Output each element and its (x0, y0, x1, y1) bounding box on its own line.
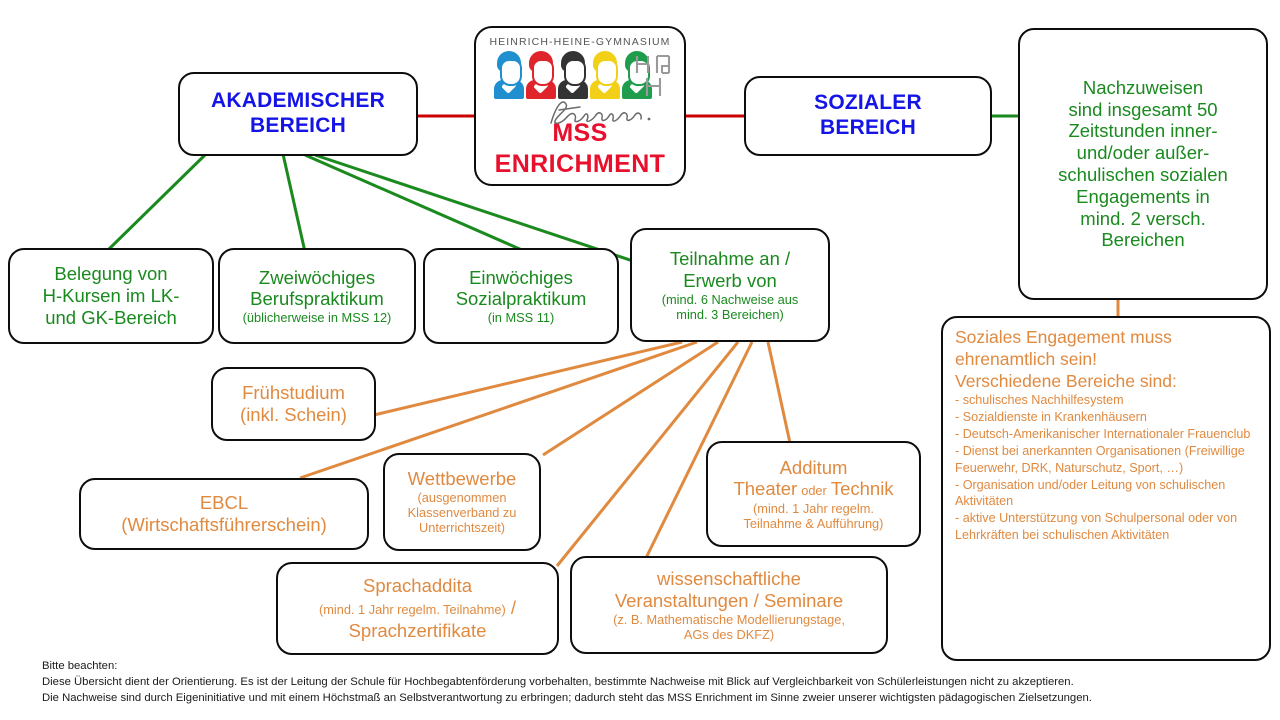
soz-item-1: - schulisches Nachhilfesystem (955, 392, 1124, 409)
node-sprachaddita[interactable]: Sprachaddita (mind. 1 Jahr regelm. Teiln… (276, 562, 559, 655)
heine-signature-icon (545, 97, 665, 127)
sozialpraktikum-line-2: Sozialpraktikum (433, 288, 609, 310)
belegung-line-3: und GK-Bereich (18, 307, 204, 329)
ebcl-line-1: EBCL (89, 492, 359, 514)
footer-note: Bitte beachten: Diese Übersicht dient de… (42, 658, 1252, 706)
additum-oder: oder (797, 483, 831, 498)
node-belegung-h-kurse[interactable]: Belegung von H-Kursen im LK- und GK-Bere… (8, 248, 214, 344)
sprachaddita-slash: / (506, 597, 516, 618)
sozialpraktikum-note: (in MSS 11) (433, 310, 609, 325)
node-teilnahme-erwerb[interactable]: Teilnahme an / Erwerb von (mind. 6 Nachw… (630, 228, 830, 342)
heine-portrait-blue-icon (494, 51, 524, 99)
diagram-canvas: AKADEMISCHER BEREICH HEINRICH-HEINE-GYMN… (0, 0, 1280, 720)
sozialer-line1: SOZIALER (814, 91, 922, 116)
link-academic-belegung (108, 154, 206, 250)
sprachaddita-note: (mind. 1 Jahr regelm. Teilnahme) (319, 602, 506, 617)
wettbewerbe-note-2: Klassenverband zu (393, 505, 531, 520)
teilnahme-line-1: Teilnahme an / (640, 248, 820, 270)
teilnahme-line-2: Erwerb von (640, 270, 820, 292)
soz-heading-2: ehrenamtlich sein! (955, 348, 1097, 370)
link-teilnahme-fruehstudium (374, 342, 682, 415)
berufspraktikum-line-2: Berufspraktikum (228, 288, 406, 310)
requirement-line-4: und/oder außer- (1028, 142, 1258, 164)
additum-note-1: (mind. 1 Jahr regelm. (716, 501, 911, 516)
node-additum[interactable]: Additum TheateroderTechnik (mind. 1 Jahr… (706, 441, 921, 547)
wissenschaftliche-line-1: wissenschaftliche (580, 568, 878, 590)
ebcl-line-2: (Wirtschaftsführerschein) (89, 514, 359, 536)
requirement-line-2: sind insgesamt 50 (1028, 99, 1258, 121)
sprachaddita-title: Sprachaddita (286, 575, 549, 597)
node-wissenschaftliche-veranstaltungen[interactable]: wissenschaftliche Veranstaltungen / Semi… (570, 556, 888, 654)
akademischer-line2: BEREICH (250, 114, 346, 139)
fruehstudium-line-2: (inkl. Schein) (221, 404, 366, 426)
footer-label: Bitte beachten: (42, 658, 1252, 674)
fruehstudium-line-1: Frühstudium (221, 382, 366, 404)
enrichment-label: ENRICHMENT (495, 150, 666, 180)
heine-portraits-artwork (488, 51, 673, 103)
additum-title: Additum (716, 457, 911, 479)
soz-item-4: - Dienst bei anerkannten Organisationen … (955, 443, 1259, 477)
footer-line-1: Diese Übersicht dient der Orientierung. … (42, 674, 1252, 690)
requirement-line-3: Zeitstunden inner- (1028, 120, 1258, 142)
node-einwoechiges-sozialpraktikum[interactable]: Einwöchiges Sozialpraktikum (in MSS 11) (423, 248, 619, 344)
additum-technik: Technik (831, 478, 894, 499)
teilnahme-note-1: (mind. 6 Nachweise aus (640, 292, 820, 307)
soz-item-2: - Sozialdienste in Krankenhäusern (955, 409, 1147, 426)
footer-line-2: Die Nachweise sind durch Eigeninitiative… (42, 690, 1252, 706)
requirement-line-6: Engagements in (1028, 186, 1258, 208)
node-zweiwoechiges-berufspraktikum[interactable]: Zweiwöchiges Berufspraktikum (üblicherwe… (218, 248, 416, 344)
belegung-line-1: Belegung von (18, 263, 204, 285)
node-wettbewerbe[interactable]: Wettbewerbe (ausgenommen Klassenverband … (383, 453, 541, 551)
heine-portrait-yellow-icon (590, 51, 620, 99)
sprachaddita-middle-row: (mind. 1 Jahr regelm. Teilnahme) / (286, 597, 549, 620)
soz-heading-3: Verschiedene Bereiche sind: (955, 370, 1177, 392)
wissenschaftliche-line-2: Veranstaltungen / Seminare (580, 590, 878, 612)
soz-item-3: - Deutsch-Amerikanischer Internationaler… (955, 426, 1250, 443)
requirement-line-8: Bereichen (1028, 229, 1258, 251)
belegung-line-2: H-Kursen im LK- (18, 285, 204, 307)
berufspraktikum-note: (üblicherweise in MSS 12) (228, 310, 406, 325)
akademischer-line1: AKADEMISCHER (211, 89, 385, 114)
link-teilnahme-wettbewerbe (543, 342, 718, 455)
berufspraktikum-line-1: Zweiwöchiges (228, 267, 406, 289)
node-soziales-engagement-liste[interactable]: Soziales Engagement muss ehrenamtlich se… (941, 316, 1271, 661)
requirement-line-1: Nachzuweisen (1028, 77, 1258, 99)
wissenschaftliche-note-1: (z. B. Mathematische Modellierungstage, (580, 612, 878, 627)
soz-heading-1: Soziales Engagement muss (955, 326, 1172, 348)
additum-theater: Theater (733, 478, 797, 499)
node-sozialer-bereich[interactable]: SOZIALER BEREICH (744, 76, 992, 156)
node-mss-enrichment-logo[interactable]: HEINRICH-HEINE-GYMNASIUM (474, 26, 686, 186)
additum-subjects-row: TheateroderTechnik (716, 478, 911, 501)
heine-portrait-red-icon (526, 51, 556, 99)
additum-note-2: Teilnahme & Aufführung) (716, 516, 911, 531)
sprachaddita-title-2: Sprachzertifikate (286, 620, 549, 642)
wissenschaftliche-note-2: AGs des DKFZ) (580, 627, 878, 642)
heine-portrait-black-icon (558, 51, 588, 99)
node-akademischer-bereich[interactable]: AKADEMISCHER BEREICH (178, 72, 418, 156)
soz-item-5: - Organisation und/oder Leitung von schu… (955, 477, 1259, 511)
node-ebcl[interactable]: EBCL (Wirtschaftsführerschein) (79, 478, 369, 550)
wettbewerbe-note-1: (ausgenommen (393, 490, 531, 505)
sozialpraktikum-line-1: Einwöchiges (433, 267, 609, 289)
school-name-label: HEINRICH-HEINE-GYMNASIUM (490, 36, 671, 48)
soz-item-6: - aktive Unterstützung von Schulpersonal… (955, 510, 1259, 544)
wettbewerbe-note-3: Unterrichtszeit) (393, 520, 531, 535)
link-academic-berufspraktikum (283, 154, 305, 252)
link-teilnahme-additum (768, 342, 790, 443)
requirement-line-7: mind. 2 versch. (1028, 208, 1258, 230)
wettbewerbe-title: Wettbewerbe (393, 468, 531, 490)
node-fruehstudium[interactable]: Frühstudium (inkl. Schein) (211, 367, 376, 441)
hgh-monogram-icon (633, 53, 673, 99)
sozialer-line2: BEREICH (820, 116, 916, 141)
node-nachzuweisen-stunden[interactable]: Nachzuweisen sind insgesamt 50 Zeitstund… (1018, 28, 1268, 300)
teilnahme-note-2: mind. 3 Bereichen) (640, 307, 820, 322)
requirement-line-5: schulischen sozialen (1028, 164, 1258, 186)
